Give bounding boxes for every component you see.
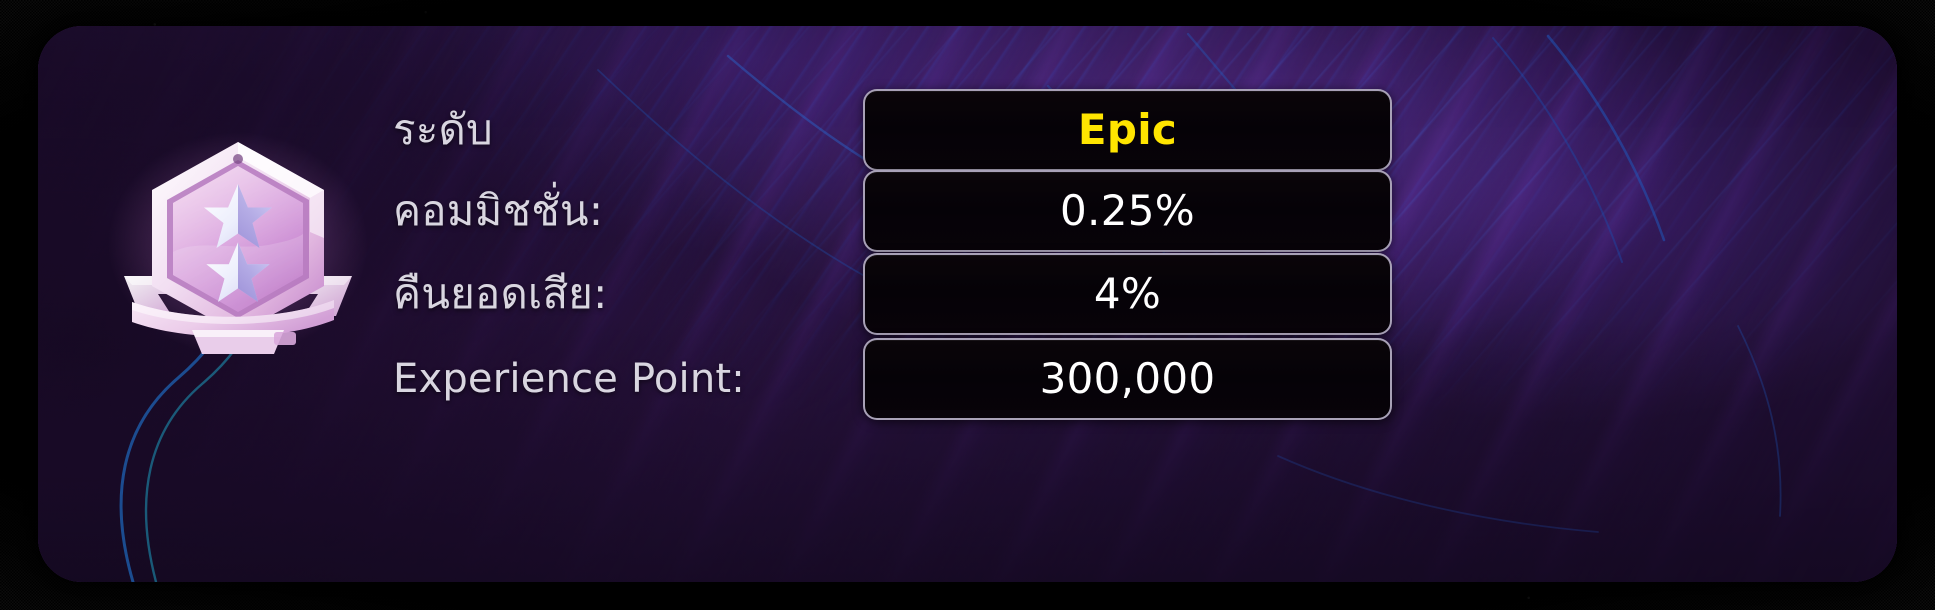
value-box-experience-point[interactable]: 300,000 <box>863 338 1392 420</box>
tier-row-level: ระดับ Epic <box>393 90 1897 170</box>
row-label-cashback: คืนยอดเสีย: <box>393 273 863 315</box>
value-level: Epic <box>1078 109 1177 151</box>
value-box-cashback[interactable]: 4% <box>863 253 1392 335</box>
row-label-experience-point: Experience Point: <box>393 359 863 399</box>
tier-row-commission: คอมมิชชั่น: 0.25% <box>393 171 1897 251</box>
tier-row-cashback: คืนยอดเสีย: 4% <box>393 254 1897 334</box>
tier-card: ระดับ Epic คอมมิชชั่น: 0.25% คืนยอดเสีย:… <box>38 26 1897 582</box>
value-box-level[interactable]: Epic <box>863 89 1392 171</box>
tier-row-experience-point: Experience Point: 300,000 <box>393 339 1897 419</box>
value-experience-point: 300,000 <box>1040 358 1216 400</box>
tier-detail-rows: ระดับ Epic คอมมิชชั่น: 0.25% คืนยอดเสีย:… <box>38 26 1897 582</box>
row-label-level: ระดับ <box>393 109 863 151</box>
value-box-commission[interactable]: 0.25% <box>863 170 1392 252</box>
value-commission: 0.25% <box>1060 190 1195 232</box>
outer-frame: ระดับ Epic คอมมิชชั่น: 0.25% คืนยอดเสีย:… <box>0 0 1935 610</box>
row-label-commission: คอมมิชชั่น: <box>393 190 863 232</box>
value-cashback: 4% <box>1094 273 1161 315</box>
